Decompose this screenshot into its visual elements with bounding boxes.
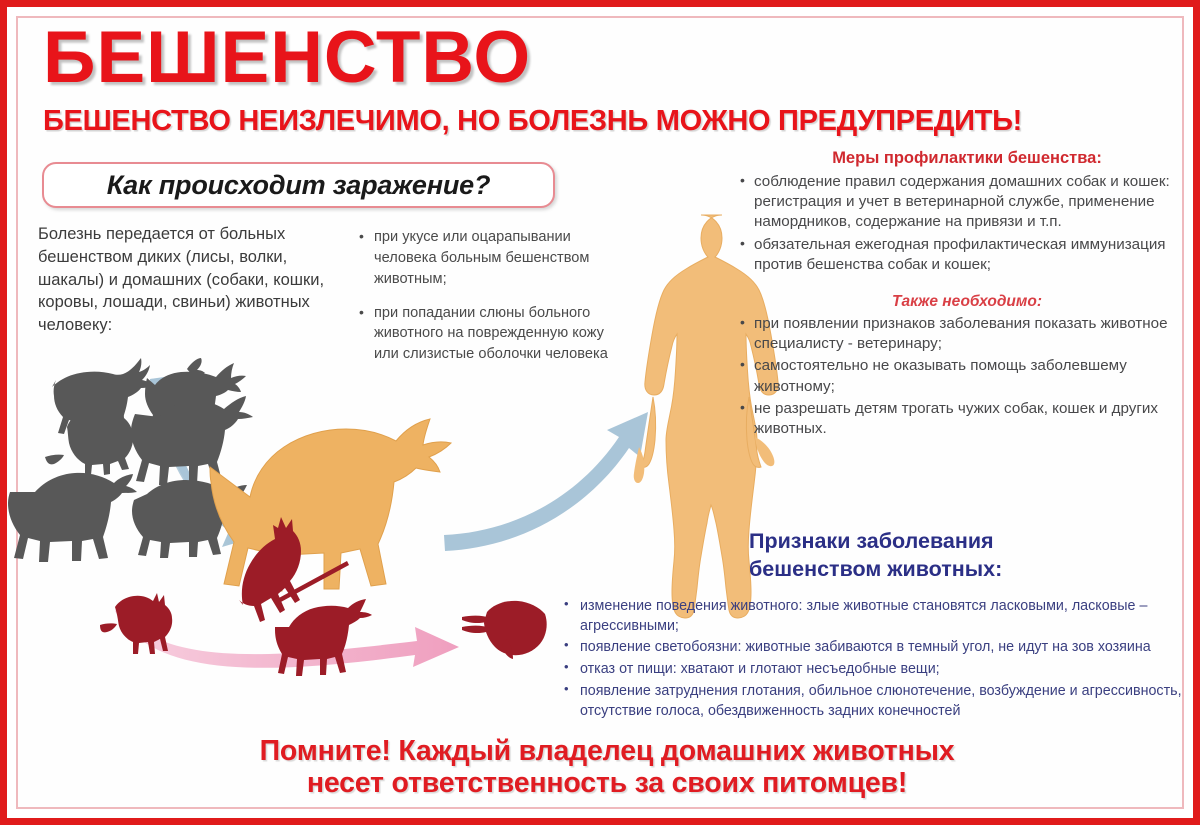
pink-arrow-progression — [115, 607, 459, 668]
horse-silhouette — [131, 396, 253, 485]
pig-silhouette — [132, 480, 252, 558]
signs-heading: Признаки заболевания бешенством животных… — [749, 528, 1169, 583]
signs-heading-line1: Признаки заболевания — [749, 529, 994, 553]
list-item: не разрешать детям трогать чужих собак, … — [738, 399, 1196, 439]
wolf-silhouette — [52, 358, 154, 437]
transmission-list: при укусе или оцарапывании человека боль… — [357, 227, 622, 378]
dog-silhouette — [145, 358, 246, 434]
signs-list: изменение поведения животного: злые живо… — [558, 597, 1198, 723]
human-hand-right — [755, 437, 774, 466]
footer-banner: Помните! Каждый владелец домашних животн… — [27, 736, 1187, 800]
rabid-dog-silhouette — [210, 419, 451, 591]
footer-line-2: несет ответственность за своих питомцев! — [27, 768, 1187, 800]
question-box-label: Как происходит заражение? — [107, 170, 490, 201]
blue-arrow-animals-to-dog — [150, 377, 269, 552]
also-required-heading: Также необходимо: — [742, 293, 1192, 311]
prevention-list: соблюдение правил содержания домашних со… — [738, 172, 1193, 277]
list-item: при укусе или оцарапывании человека боль… — [357, 227, 622, 290]
also-required-list: при появлении признаков заболевания пока… — [738, 314, 1196, 441]
fallen-animal-silhouette — [462, 601, 547, 659]
list-item: изменение поведения животного: злые живо… — [558, 597, 1198, 636]
list-item: самостоятельно не оказывать помощь забол… — [738, 356, 1196, 396]
poster-title: БЕШЕНСТВО — [43, 21, 531, 94]
rearing-dog-silhouette — [239, 517, 301, 622]
prevention-heading: Меры профилактики бешенства: — [742, 149, 1192, 168]
list-item: обязательная ежегодная профилактическая … — [738, 235, 1193, 275]
list-item: при появлении признаков заболевания пока… — [738, 314, 1196, 354]
human-hand-left — [634, 447, 645, 483]
question-box: Как происходит заражение? — [42, 162, 555, 208]
list-item: соблюдение правил содержания домашних со… — [738, 172, 1193, 233]
signs-heading-line2: бешенством животных: — [749, 557, 1002, 581]
rabies-poster: БЕШЕНСТВО БЕШЕНСТВО НЕИЗЛЕЧИМО, НО БОЛЕЗ… — [0, 0, 1200, 825]
leashed-dog-silhouette — [275, 561, 372, 676]
footer-line-1: Помните! Каждый владелец домашних животн… — [260, 735, 955, 767]
list-item: появление затруднения глотания, обильное… — [558, 682, 1198, 721]
list-item: отказ от пищи: хватают и глотают несъедо… — [558, 660, 1198, 680]
cow-silhouette — [8, 473, 137, 562]
intro-paragraph: Болезнь передается от больных бешенством… — [38, 223, 348, 337]
cat-silhouette — [45, 404, 133, 475]
list-item: появление светобоязни: животные забивают… — [558, 638, 1198, 658]
blue-arrow-dog-to-human — [444, 412, 648, 551]
poster-subtitle: БЕШЕНСТВО НЕИЗЛЕЧИМО, НО БОЛЕЗНЬ МОЖНО П… — [43, 105, 1173, 138]
list-item: при попадании слюны больного животного н… — [357, 303, 622, 366]
dead-cat-silhouette — [100, 593, 172, 654]
